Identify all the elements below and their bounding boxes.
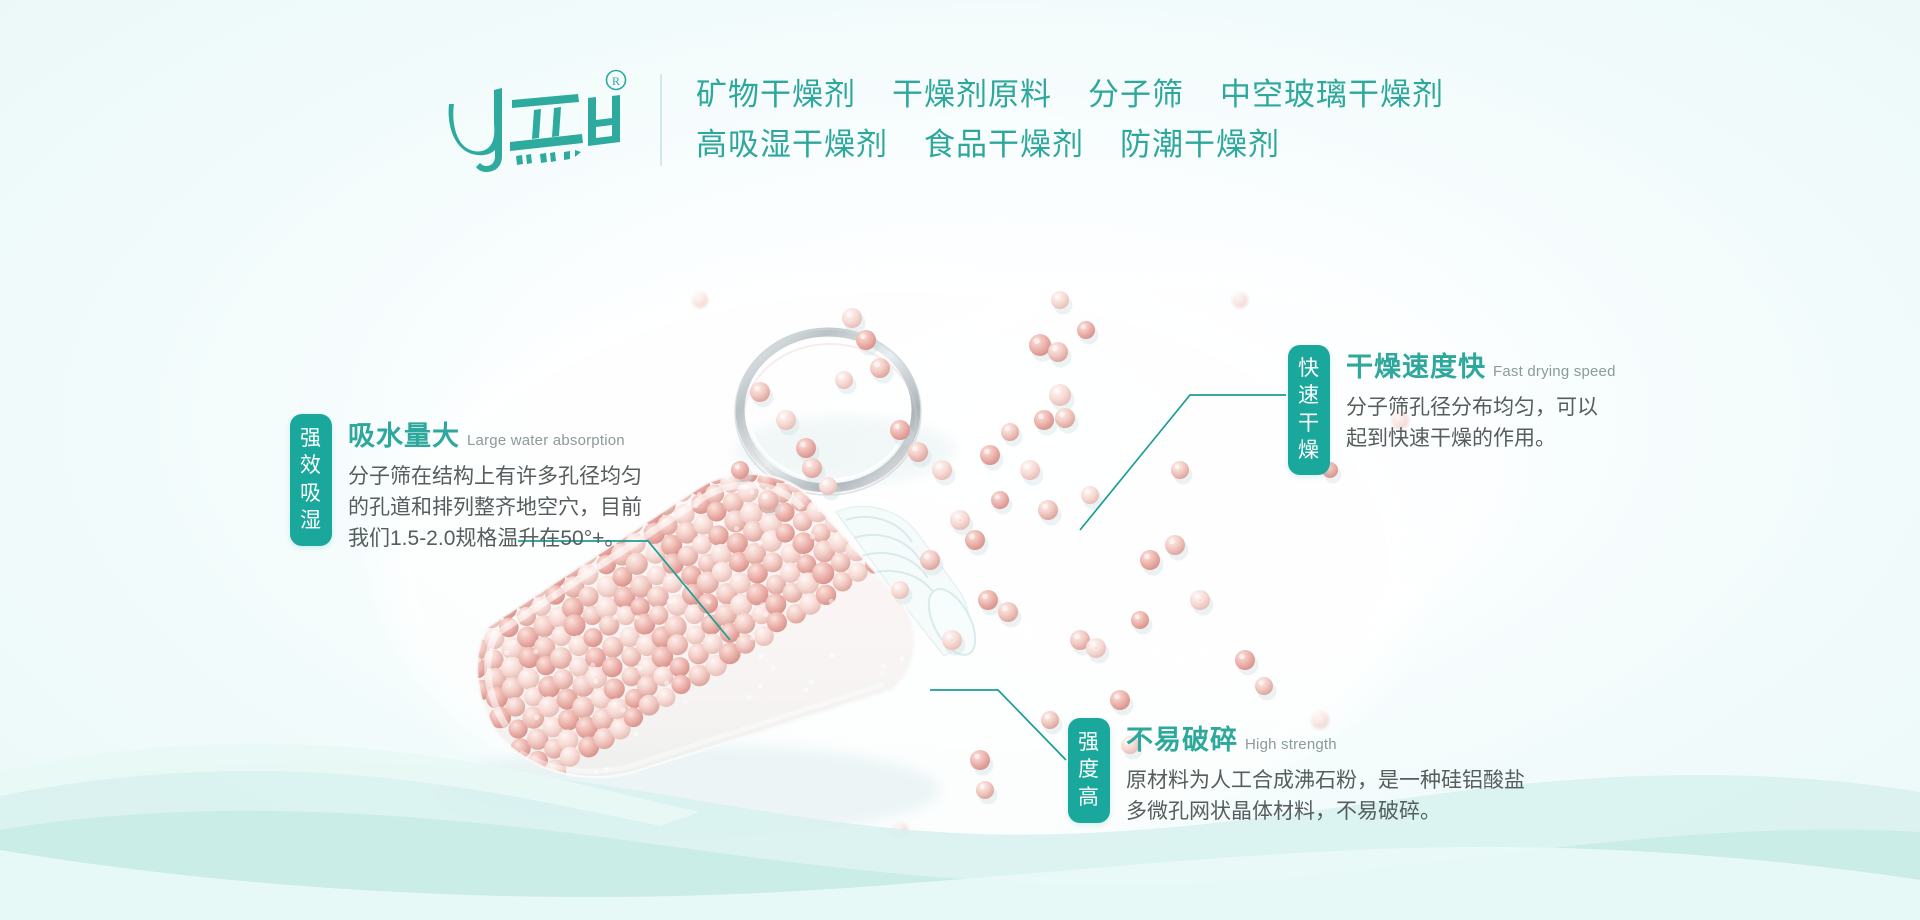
ya-ao-logo[interactable]: R (436, 64, 636, 176)
banner-stage: R 矿物干燥剂 干燥剂原料 分子筛 中空玻璃干燥剂 高吸湿干燥剂 食品干燥剂 防… (0, 0, 1920, 920)
badge-char: 强 (1068, 729, 1110, 756)
badge-char: 快 (1288, 355, 1330, 382)
badge-char: 速 (1288, 382, 1330, 409)
callout-subtitle: High strength (1245, 736, 1337, 753)
nav-item-high-moisture-absorption-desiccant[interactable]: 高吸湿干燥剂 (696, 125, 888, 165)
callout-description: 分子筛在结构上有许多孔径均匀 的孔道和排列整齐地空穴，目前 我们1.5-2.0规… (348, 461, 678, 554)
nav-item-mineral-desiccant[interactable]: 矿物干燥剂 (696, 75, 856, 115)
callout-title-line: 干燥速度快 Fast drying speed (1346, 345, 1676, 384)
callout-description: 分子筛孔径分布均匀，可以 起到快速干燥的作用。 (1346, 392, 1676, 454)
callout-large-water-absorption: 强 效 吸 湿 吸水量大 Large water absorption 分子筛在… (290, 414, 678, 554)
badge-char: 度 (1068, 756, 1110, 783)
badge-char: 燥 (1288, 437, 1330, 464)
nav-item-moisture-proof-desiccant[interactable]: 防潮干燥剂 (1120, 125, 1280, 165)
registered-trademark-icon: R (607, 71, 626, 90)
badge-char: 效 (290, 452, 332, 479)
badge-char: 强 (290, 425, 332, 452)
callout-title-line: 吸水量大 Large water absorption (348, 414, 678, 453)
nav-row-2: 高吸湿干燥剂 食品干燥剂 防潮干燥剂 (696, 125, 1444, 165)
main-nav: 矿物干燥剂 干燥剂原料 分子筛 中空玻璃干燥剂 高吸湿干燥剂 食品干燥剂 防潮干… (696, 75, 1444, 166)
nav-row-1: 矿物干燥剂 干燥剂原料 分子筛 中空玻璃干燥剂 (696, 75, 1444, 115)
nav-item-molecular-sieve[interactable]: 分子筛 (1088, 75, 1184, 115)
callout-high-strength: 强 度 高 不易破碎 High strength 原材料为人工合成沸石粉，是一种… (1068, 718, 1566, 827)
badge-char: 吸 (290, 480, 332, 507)
bottom-waves (0, 700, 1920, 920)
badge-fast-drying: 快 速 干 燥 (1288, 345, 1330, 475)
svg-text:R: R (612, 74, 620, 88)
callout-title: 吸水量大 (348, 414, 460, 453)
callout-subtitle: Fast drying speed (1493, 363, 1616, 380)
callout-title: 干燥速度快 (1346, 345, 1486, 384)
callout-description: 原材料为人工合成沸石粉，是一种硅铝酸盐 多微孔网状晶体材料，不易破碎。 (1126, 765, 1566, 827)
header-divider (660, 74, 662, 166)
callout-title: 不易破碎 (1126, 718, 1238, 757)
badge-strong-moisture-absorption: 强 效 吸 湿 (290, 414, 332, 546)
callout-subtitle: Large water absorption (467, 432, 625, 449)
badge-char: 湿 (290, 507, 332, 534)
nav-item-insulating-glass-desiccant[interactable]: 中空玻璃干燥剂 (1220, 75, 1444, 115)
badge-high-strength: 强 度 高 (1068, 718, 1110, 823)
badge-char: 高 (1068, 784, 1110, 811)
callout-fast-drying-speed: 快 速 干 燥 干燥速度快 Fast drying speed 分子筛孔径分布均… (1288, 345, 1676, 475)
site-header: R 矿物干燥剂 干燥剂原料 分子筛 中空玻璃干燥剂 高吸湿干燥剂 食品干燥剂 防… (0, 0, 1920, 240)
nav-item-desiccant-raw-material[interactable]: 干燥剂原料 (892, 75, 1052, 115)
badge-char: 干 (1288, 410, 1330, 437)
callout-title-line: 不易破碎 High strength (1126, 718, 1566, 757)
nav-item-food-desiccant[interactable]: 食品干燥剂 (924, 125, 1084, 165)
